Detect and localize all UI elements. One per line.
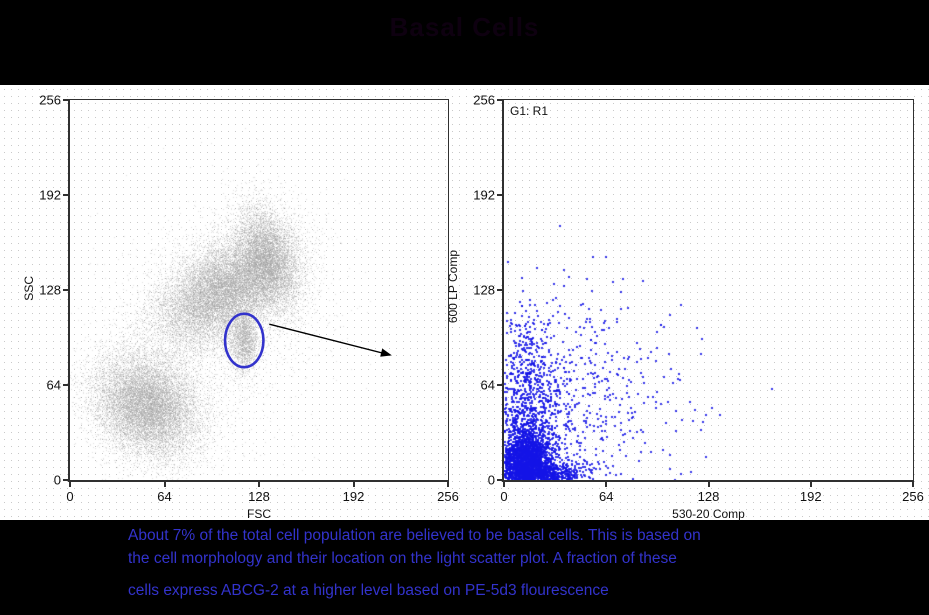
- y-tick-label: 128: [39, 283, 61, 298]
- y-tick-mark: [63, 194, 70, 196]
- y-tick-mark: [63, 384, 70, 386]
- right-scatter-canvas: [504, 100, 913, 480]
- x-tick-mark: [605, 480, 607, 487]
- x-tick-mark: [447, 480, 449, 487]
- y-tick-label: 128: [473, 283, 495, 298]
- y-tick-label: 64: [481, 378, 495, 393]
- caption-line-3: cells express ABCG-2 at a higher level b…: [0, 570, 929, 602]
- x-tick-label: 256: [902, 489, 924, 504]
- right-right-rule: [913, 99, 914, 480]
- plots-board: FSC SSC 064128192256064128192256 G1: R1 …: [0, 85, 929, 520]
- x-tick-label: 64: [157, 489, 171, 504]
- y-tick-mark: [63, 99, 70, 101]
- left-xaxis-label: FSC: [247, 507, 271, 521]
- y-tick-mark: [63, 289, 70, 291]
- x-tick-label: 256: [437, 489, 459, 504]
- y-tick-mark: [497, 289, 504, 291]
- x-tick-label: 128: [248, 489, 270, 504]
- y-tick-mark: [497, 384, 504, 386]
- gate-region-label: G1: R1: [510, 104, 548, 118]
- panel-fluorescence: G1: R1 530-20 Comp 600 LP Comp 064128192…: [464, 85, 929, 520]
- right-xaxis-label: 530-20 Comp: [672, 507, 745, 521]
- left-annotation-layer: [70, 100, 448, 480]
- x-tick-label: 192: [343, 489, 365, 504]
- x-tick-mark: [164, 480, 166, 487]
- left-plot-axes: FSC SSC 064128192256064128192256: [68, 100, 448, 482]
- right-yaxis-label: 600 LP Comp: [446, 250, 460, 323]
- right-plot-area: [504, 100, 913, 480]
- y-tick-label: 192: [473, 188, 495, 203]
- x-tick-label: 64: [599, 489, 613, 504]
- x-tick-label: 0: [66, 489, 73, 504]
- y-tick-mark: [497, 194, 504, 196]
- panel-light-scatter: FSC SSC 064128192256064128192256: [0, 85, 462, 520]
- right-plot-axes: G1: R1 530-20 Comp 600 LP Comp 064128192…: [502, 100, 913, 482]
- y-tick-label: 192: [39, 188, 61, 203]
- basal-cell-gate-ellipse[interactable]: [225, 314, 263, 367]
- x-tick-label: 192: [800, 489, 822, 504]
- y-tick-label: 0: [488, 473, 495, 488]
- figure-title: Basal Cells: [0, 12, 929, 43]
- caption-block: About 7% of the total cell population ar…: [0, 524, 929, 615]
- x-tick-mark: [708, 480, 710, 487]
- x-tick-mark: [258, 480, 260, 487]
- title-bar: Basal Cells: [0, 0, 929, 85]
- y-tick-label: 256: [473, 93, 495, 108]
- x-tick-mark: [912, 480, 914, 487]
- x-tick-mark: [810, 480, 812, 487]
- y-tick-label: 256: [39, 93, 61, 108]
- pointer-arrow-line: [269, 324, 386, 354]
- x-tick-mark: [353, 480, 355, 487]
- caption-line-2: the cell morphology and their location o…: [0, 547, 929, 570]
- figure-root: Basal Cells FSC SSC 06412819225606412819…: [0, 0, 929, 615]
- x-tick-mark: [69, 480, 71, 487]
- x-tick-mark: [503, 480, 505, 487]
- x-tick-label: 128: [698, 489, 720, 504]
- left-yaxis-label: SSC: [22, 276, 36, 301]
- x-tick-label: 0: [500, 489, 507, 504]
- y-tick-mark: [497, 99, 504, 101]
- y-tick-label: 0: [54, 473, 61, 488]
- y-tick-label: 64: [47, 378, 61, 393]
- pointer-arrow-head: [380, 349, 392, 357]
- caption-line-1: About 7% of the total cell population ar…: [0, 524, 929, 547]
